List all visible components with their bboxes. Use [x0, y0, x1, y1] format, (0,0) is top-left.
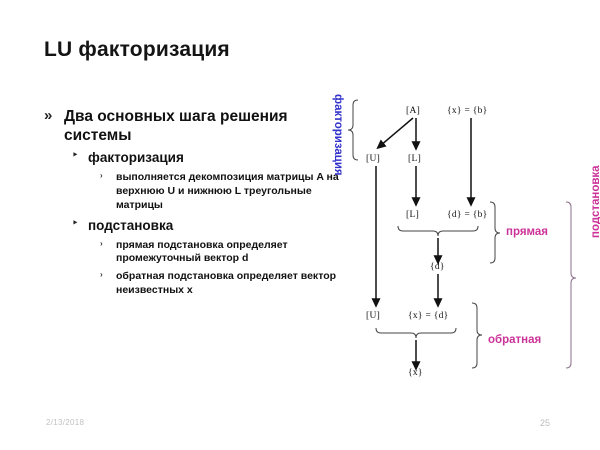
node-matrix-L-row: [L]	[406, 210, 419, 220]
bullet-level2-substitution: ‣ подстановка	[68, 218, 344, 235]
label-forward-substitution: прямая	[506, 226, 548, 238]
bullet-level3-forward: › прямая подстановка определяет промежут…	[98, 239, 344, 267]
bullet-marker-level3: ›	[100, 171, 103, 182]
label-substitution: подстановка	[590, 165, 600, 238]
node-xb: {x} = {b}	[447, 106, 488, 116]
node-matrix-L-top: [L]	[408, 154, 421, 164]
bullet-level3-backward: › обратная подстановка определяет вектор…	[98, 270, 344, 298]
bullet-marker-level2: ‣	[72, 218, 78, 231]
diagram-arrows	[330, 78, 600, 398]
bullet-level3-decomposition: › выполняется декомпозиция матрицы A на …	[98, 171, 344, 213]
bullet-marker-level3: ›	[100, 239, 103, 250]
bullet-level2-factorization: ‣ факторизация	[68, 150, 344, 167]
node-xd: {x} = {d}	[408, 311, 449, 321]
bullet-level3-text: прямая подстановка определяет промежуточ…	[116, 239, 288, 265]
bullet-marker-level1: »	[44, 107, 52, 125]
label-backward-substitution: обратная	[488, 334, 541, 346]
bullet-marker-level3: ›	[100, 270, 103, 281]
bullet-level2-label: подстановка	[88, 218, 173, 233]
node-vector-d: {d}	[430, 262, 445, 272]
bullet-level2-label: факторизация	[88, 150, 184, 165]
slide-canvas: LU факторизация » Два основных шага реше…	[0, 0, 600, 450]
node-db: {d} = {b}	[447, 210, 488, 220]
bullet-list: » Два основных шага решения системы ‣ фа…	[44, 108, 344, 298]
bullet-level3-text: выполняется декомпозиция матрицы A на ве…	[116, 171, 339, 211]
node-matrix-U-row: [U]	[366, 311, 380, 321]
bullet-level1-text: Два основных шага решения системы	[64, 108, 288, 144]
bullet-level3-text: обратная подстановка определяет вектор н…	[116, 270, 336, 296]
node-matrix-U-top: [U]	[366, 154, 380, 164]
label-factorization: факторизация	[332, 94, 344, 176]
footer-page-number: 25	[540, 418, 550, 428]
node-vector-x: {x}	[408, 368, 423, 378]
bullet-level1: » Два основных шага решения системы	[44, 108, 344, 145]
lu-flow-diagram: [A] {x} = {b} [U] [L] [L] {d} = {b} {d} …	[330, 78, 600, 398]
page-title: LU факторизация	[44, 38, 230, 62]
node-matrix-A: [A]	[406, 106, 420, 116]
bullet-marker-level2: ‣	[72, 150, 78, 163]
footer-date: 2/13/2018	[46, 418, 84, 427]
